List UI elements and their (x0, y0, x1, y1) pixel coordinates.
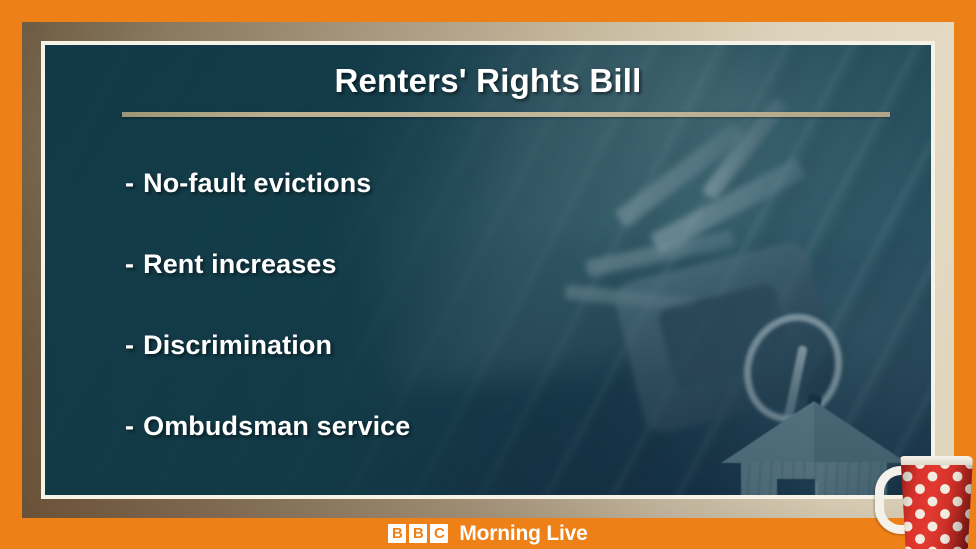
list-item: -Discrimination (125, 330, 685, 361)
polka-dot-mug (877, 452, 976, 549)
list-item: -Rent increases (125, 249, 685, 280)
bbc-logo-letter: B (409, 524, 427, 543)
list-item-label: Ombudsman service (143, 411, 410, 441)
bullet-list: -No-fault evictions -Rent increases -Dis… (125, 168, 685, 442)
bullet-dash: - (125, 249, 134, 279)
bbc-logo-letter: C (430, 524, 448, 543)
content-panel: Renters' Rights Bill -No-fault evictions… (45, 45, 931, 495)
bullet-dash: - (125, 411, 134, 441)
list-item-label: No-fault evictions (143, 168, 371, 198)
list-item: -No-fault evictions (125, 168, 685, 199)
list-item: -Ombudsman service (125, 411, 685, 442)
panel-content: Renters' Rights Bill -No-fault evictions… (45, 45, 931, 495)
bullet-dash: - (125, 168, 134, 198)
bbc-logo-letter: B (388, 524, 406, 543)
mug-shading (899, 456, 973, 549)
page-title: Renters' Rights Bill (45, 62, 931, 100)
broadcast-graphic: Renters' Rights Bill -No-fault evictions… (0, 0, 976, 549)
mug-body (899, 456, 973, 549)
mug-rim (899, 456, 973, 465)
list-item-label: Rent increases (143, 249, 337, 279)
bbc-morning-live-logo: B B C Morning Live (0, 521, 976, 546)
bullet-dash: - (125, 330, 134, 360)
title-divider (122, 112, 890, 117)
bbc-logo: B B C (388, 524, 448, 543)
programme-name: Morning Live (459, 522, 587, 546)
list-item-label: Discrimination (143, 330, 332, 360)
